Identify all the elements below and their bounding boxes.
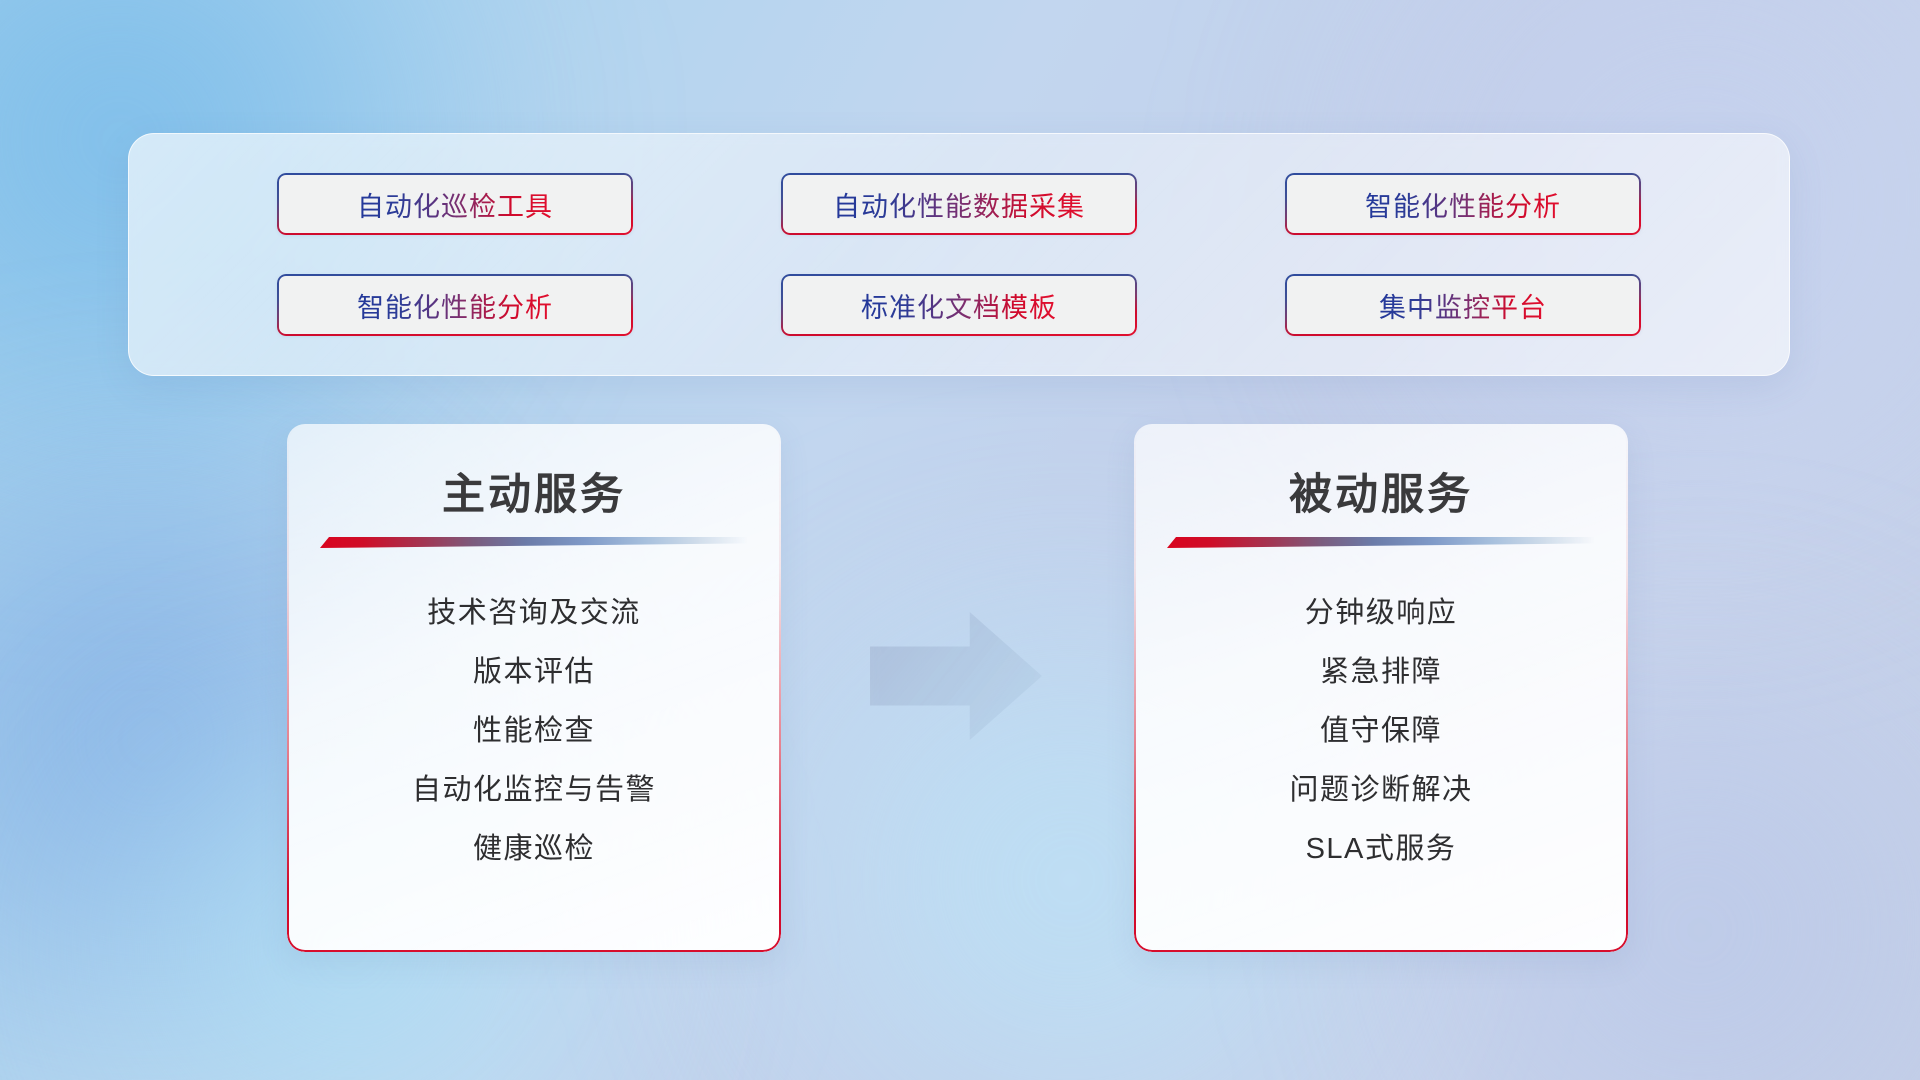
capability-pill-label: 自动化巡检工具 — [357, 185, 553, 224]
capability-pill-label: 智能化性能分析 — [357, 286, 553, 325]
service-item: 健康巡检 — [287, 816, 781, 875]
capability-pill-6[interactable]: 集中监控平台 — [1285, 274, 1641, 336]
service-item: 问题诊断解决 — [1134, 757, 1628, 816]
service-card-passive: 被动服务 分钟级响应 紧急排障 值守保障 问题诊断解决 SLA式服务 — [1134, 424, 1628, 952]
service-item: 性能检查 — [287, 698, 781, 757]
capability-pill-label: 标准化文档模板 — [861, 286, 1057, 325]
service-card-title: 主动服务 — [287, 460, 781, 522]
service-card-active: 主动服务 技术咨询及交流 版本评估 性能检查 自动化监控与告警 健康巡检 — [287, 424, 781, 952]
capability-pill-1[interactable]: 自动化巡检工具 — [277, 173, 633, 235]
service-card-title: 被动服务 — [1134, 460, 1628, 522]
capability-pill-label: 智能化性能分析 — [1365, 185, 1561, 224]
capability-pill-grid: 自动化巡检工具 自动化性能数据采集 智能化性能分析 智能化性能分析 标准化文档模… — [129, 134, 1789, 375]
title-accent-rule — [1167, 537, 1595, 548]
service-item: 版本评估 — [287, 639, 781, 698]
service-item: SLA式服务 — [1134, 816, 1628, 875]
service-item-list: 技术咨询及交流 版本评估 性能检查 自动化监控与告警 健康巡检 — [287, 580, 781, 875]
capability-pill-3[interactable]: 智能化性能分析 — [1285, 173, 1641, 235]
service-item: 值守保障 — [1134, 698, 1628, 757]
capability-panel: 自动化巡检工具 自动化性能数据采集 智能化性能分析 智能化性能分析 标准化文档模… — [128, 133, 1790, 376]
capability-pill-label: 集中监控平台 — [1379, 286, 1547, 325]
service-item-list: 分钟级响应 紧急排障 值守保障 问题诊断解决 SLA式服务 — [1134, 580, 1628, 875]
title-accent-rule — [320, 537, 748, 548]
capability-pill-label: 自动化性能数据采集 — [833, 185, 1085, 224]
capability-pill-2[interactable]: 自动化性能数据采集 — [781, 173, 1137, 235]
capability-pill-4[interactable]: 智能化性能分析 — [277, 274, 633, 336]
service-item: 技术咨询及交流 — [287, 580, 781, 639]
arrow-right-icon — [870, 612, 1042, 740]
service-item: 自动化监控与告警 — [287, 757, 781, 816]
service-item: 分钟级响应 — [1134, 580, 1628, 639]
slide-canvas: 自动化巡检工具 自动化性能数据采集 智能化性能分析 智能化性能分析 标准化文档模… — [0, 0, 1920, 1080]
capability-pill-5[interactable]: 标准化文档模板 — [781, 274, 1137, 336]
service-item: 紧急排障 — [1134, 639, 1628, 698]
